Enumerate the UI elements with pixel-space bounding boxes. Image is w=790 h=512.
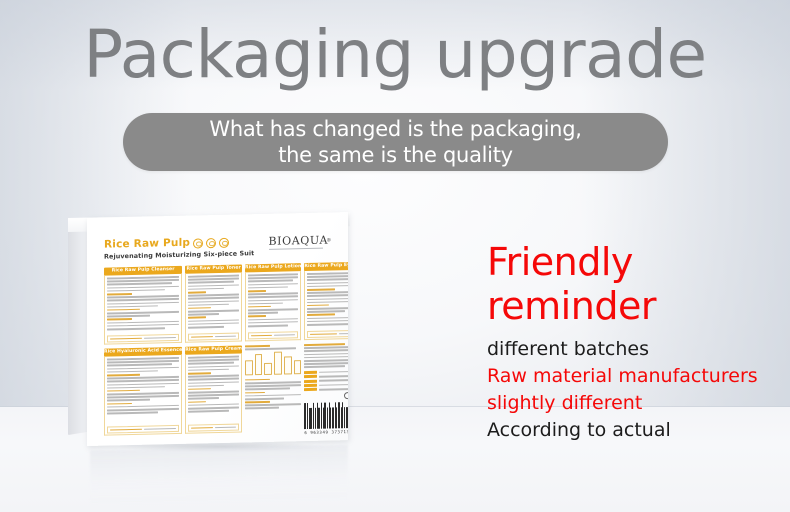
package-panel-title: Rice Raw Pulp Lotion bbox=[245, 263, 301, 272]
tagline-line-1: What has changed is the packaging, bbox=[209, 116, 581, 142]
reminder-line: Raw material manufacturers bbox=[487, 363, 782, 390]
package-brand-row: Rice Raw Pulp Rejuvenating Moisturizing … bbox=[104, 234, 332, 260]
reminder-title-line-2: reminder bbox=[487, 284, 782, 328]
package-column-4: Rice Raw Pulp Eye Cream bbox=[304, 262, 348, 436]
package-panel-lotion: Rice Raw Pulp Lotion bbox=[245, 263, 301, 341]
tagline-line-2: the same is the quality bbox=[278, 142, 513, 168]
reminder-line: According to actual bbox=[487, 417, 782, 444]
package-title-block: Rice Raw Pulp Rejuvenating Moisturizing … bbox=[104, 236, 254, 260]
registered-mark-icon: ® bbox=[326, 234, 332, 246]
brand-name: BIOAQUA bbox=[269, 234, 329, 248]
package-panel-cleanser: Rice Raw Pulp Cleanser bbox=[104, 266, 182, 345]
box-front-face: Rice Raw Pulp Rejuvenating Moisturizing … bbox=[87, 212, 348, 446]
package-panel-footer bbox=[188, 333, 239, 341]
package-panel-cream: Rice Raw Pulp Cream bbox=[185, 345, 242, 433]
package-panel-footer bbox=[188, 424, 239, 432]
package-column-3: Rice Raw Pulp Lotion bbox=[245, 263, 301, 437]
reminder-line: different batches bbox=[487, 336, 782, 363]
brand-underline bbox=[269, 248, 323, 250]
package-panel-eye-cream: Rice Raw Pulp Eye Cream bbox=[304, 262, 348, 341]
package-recycle-marks: CE bbox=[304, 392, 348, 401]
reminder-line: slightly different bbox=[487, 390, 782, 417]
reminder-title-line-1: Friendly bbox=[487, 240, 782, 284]
package-panel-toner: Rice Raw Pulp Toner bbox=[185, 264, 242, 342]
recycle-icon bbox=[344, 392, 348, 399]
package-usage-diagram-block bbox=[245, 344, 301, 409]
package-panel-footer bbox=[107, 425, 179, 434]
page-title: Packaging upgrade bbox=[0, 16, 790, 94]
certification-icon-3 bbox=[219, 237, 229, 247]
package-panel-title: Rice Raw Pulp Toner bbox=[185, 264, 242, 273]
package-panel-footer bbox=[307, 330, 348, 338]
package-contents-block: CE bbox=[304, 343, 348, 436]
product-box-image: Rice Raw Pulp Rejuvenating Moisturizing … bbox=[60, 205, 360, 455]
package-subtitle: Rejuvenating Moisturizing Six-piece Suit bbox=[104, 249, 254, 260]
package-panel-essence: Rice Hyaluronic Acid Essence bbox=[104, 347, 182, 436]
barcode-number: 6 963349 373713 bbox=[304, 429, 348, 436]
package-product-title: Rice Raw Pulp bbox=[104, 238, 190, 251]
package-brand-logo: BIOAQUA® bbox=[269, 234, 333, 249]
promo-banner: Packaging upgrade What has changed is th… bbox=[0, 0, 790, 512]
tagline-pill: What has changed is the packaging, the s… bbox=[123, 113, 668, 171]
certification-icon-2 bbox=[206, 238, 216, 248]
package-usage-figures bbox=[245, 352, 301, 375]
package-column-1: Rice Raw Pulp Cleanser bbox=[104, 266, 182, 440]
friendly-reminder-block: Friendly reminder different batches Raw … bbox=[487, 240, 782, 444]
package-panel-grid: Rice Raw Pulp Cleanser bbox=[104, 262, 332, 440]
package-column-2: Rice Raw Pulp Toner bbox=[185, 264, 242, 438]
package-panel-footer bbox=[248, 331, 298, 339]
barcode bbox=[304, 402, 348, 430]
package-panel-footer bbox=[107, 334, 179, 343]
package-panel-title: Rice Raw Pulp Eye Cream bbox=[304, 262, 348, 272]
package-panel-title: Rice Raw Pulp Cream bbox=[185, 345, 242, 354]
reminder-lines: different batches Raw material manufactu… bbox=[487, 336, 782, 444]
box-reflection bbox=[90, 445, 348, 507]
certification-icon-1 bbox=[193, 238, 203, 248]
